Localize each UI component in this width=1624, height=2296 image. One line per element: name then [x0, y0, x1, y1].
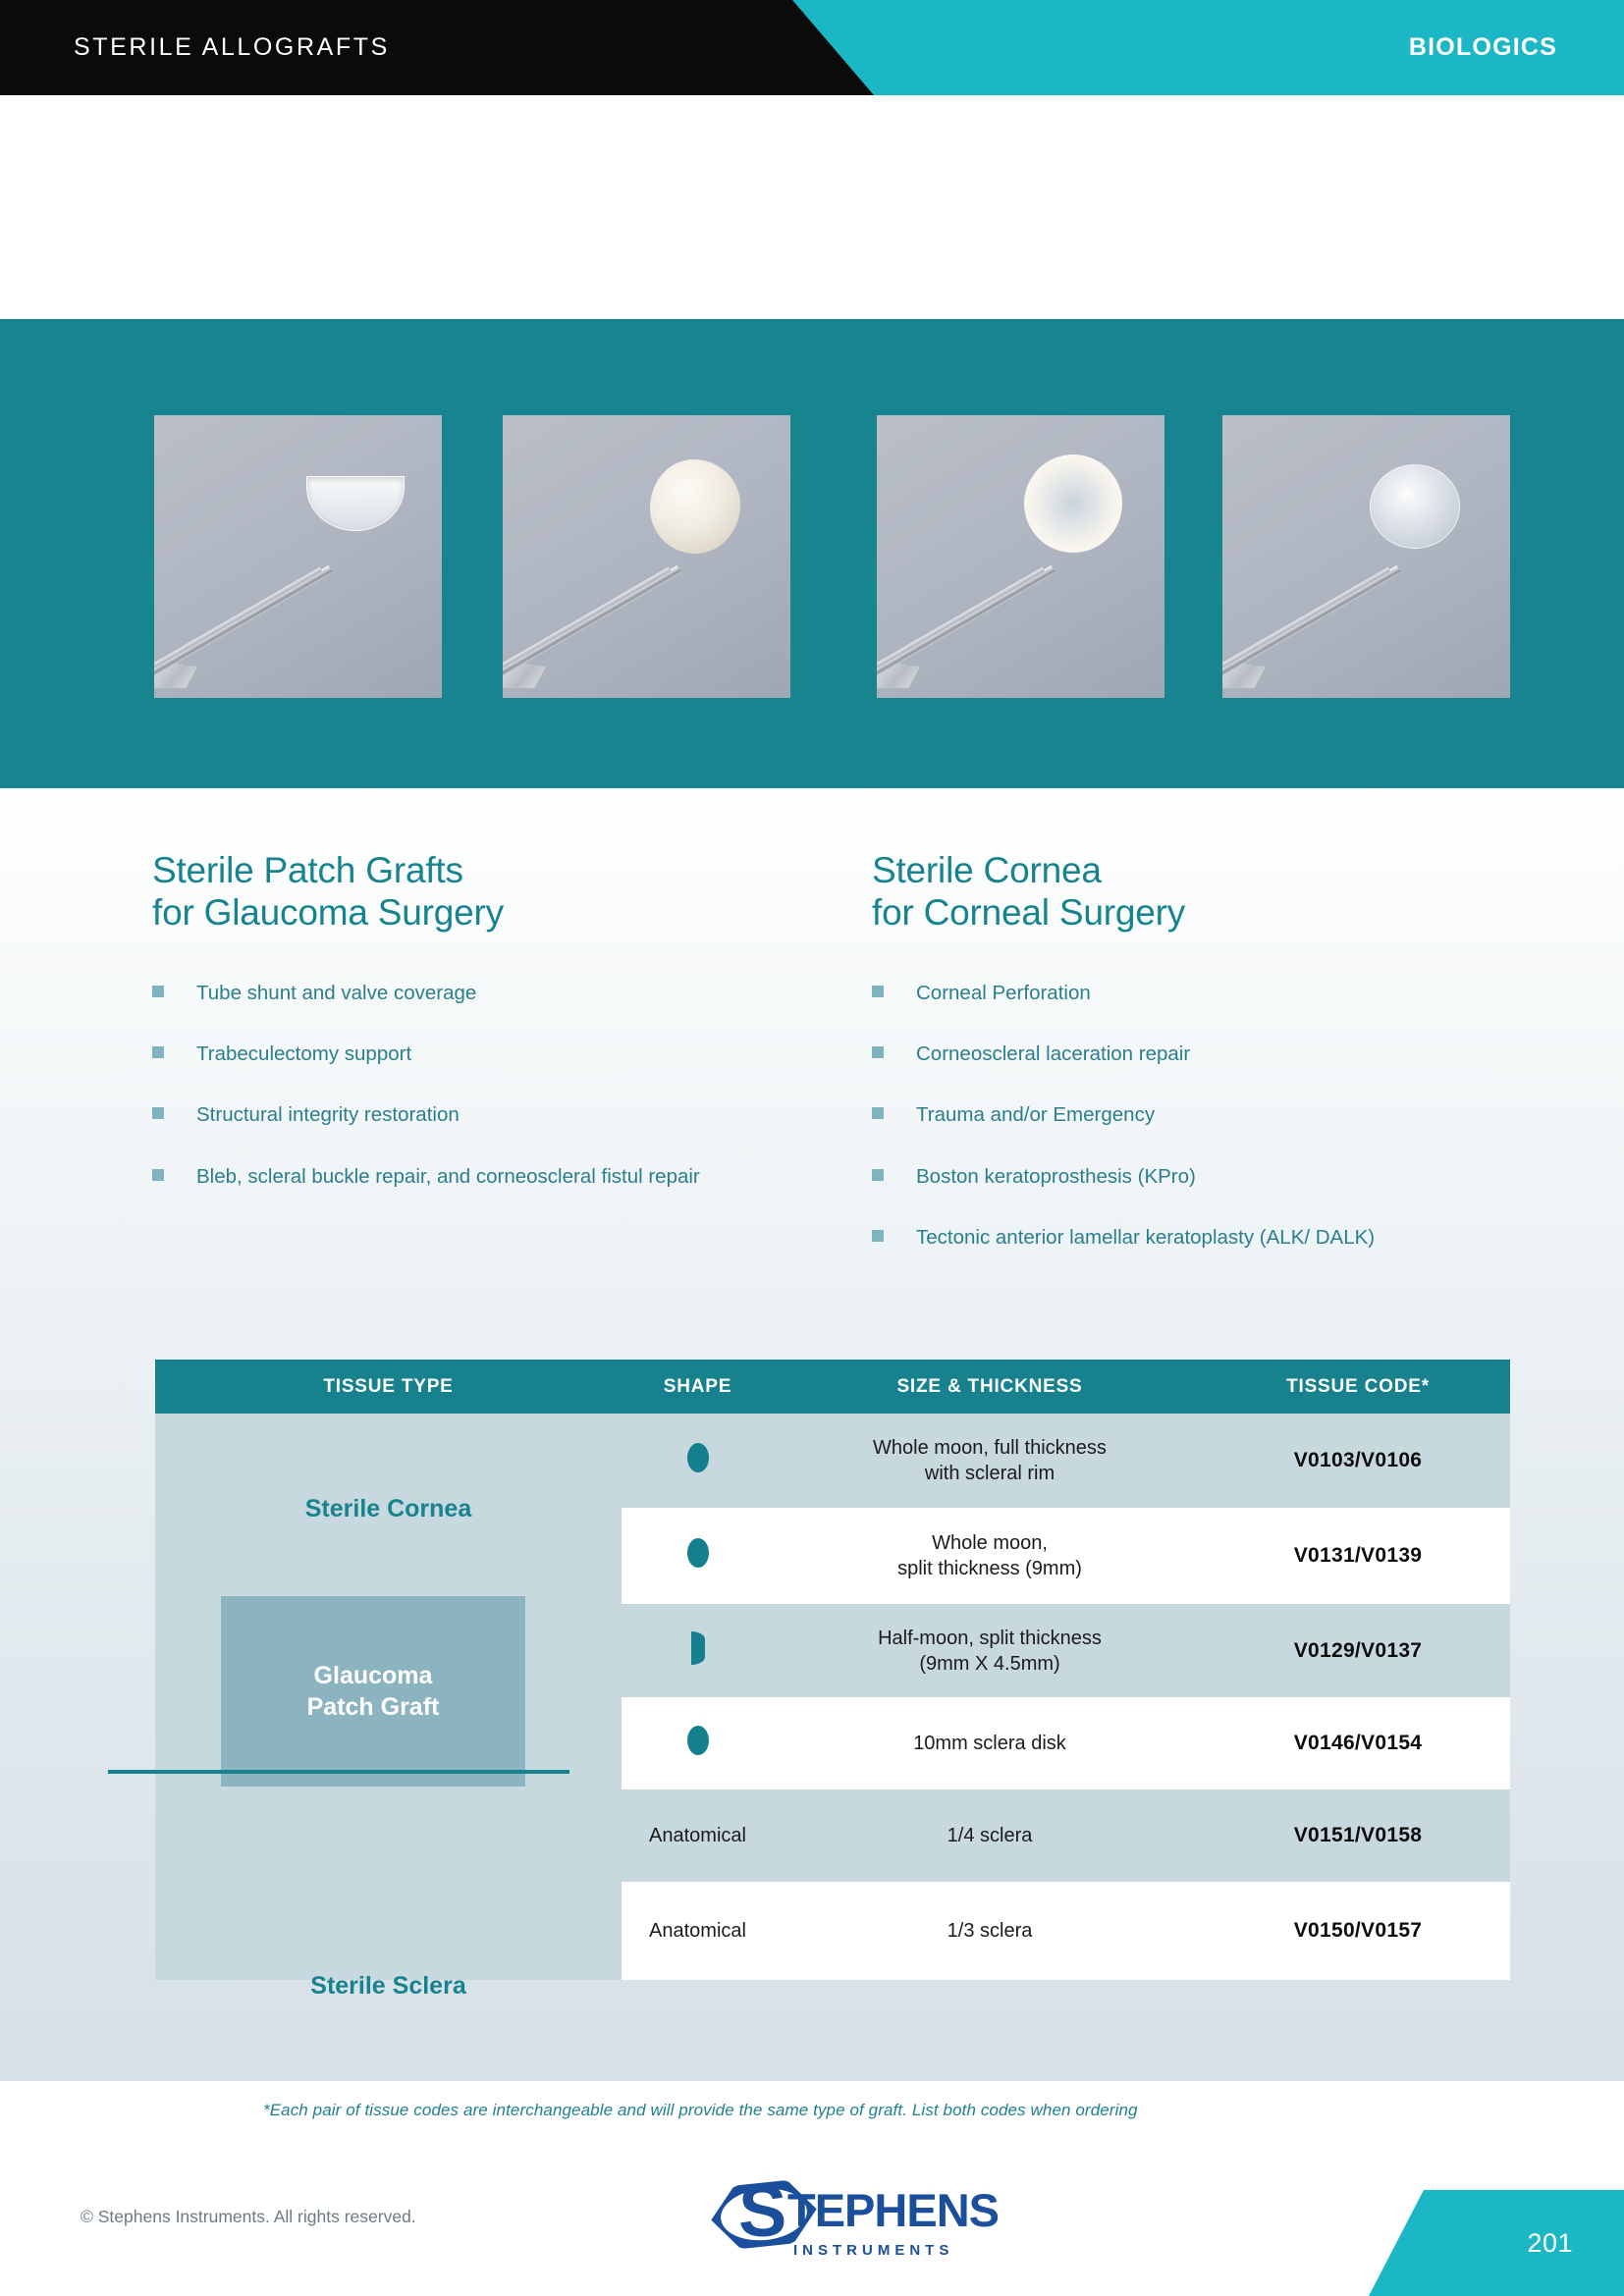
bullet-list-sterile-cornea: Corneal Perforation Corneoscleral lacera… — [872, 977, 1559, 1255]
section-title-line1: Sterile Cornea — [872, 849, 1559, 891]
size-line1: 1/4 sclera — [774, 1823, 1206, 1848]
bullet-square-icon — [152, 1169, 164, 1181]
section-sterile-cornea: Sterile Cornea for Corneal Surgery Corne… — [872, 849, 1559, 1283]
size-cell: Half-moon, split thickness (9mm X 4.5mm) — [774, 1626, 1206, 1677]
circle-icon — [687, 1538, 709, 1568]
copyright-text: © Stephens Instruments. All rights reser… — [81, 2207, 416, 2227]
bullet-text: Bleb, scleral buckle repair, and corneos… — [196, 1165, 700, 1188]
size-line2: split thickness (9mm) — [774, 1556, 1206, 1581]
header-section-title: STERILE ALLOGRAFTS — [74, 0, 390, 95]
tissue-code-cell: V0150/V0157 — [1206, 1919, 1510, 1943]
size-cell: Whole moon, split thickness (9mm) — [774, 1530, 1206, 1581]
shape-cell — [622, 1726, 774, 1761]
table-body: Sterile Cornea Glaucoma Patch Graft Ster… — [155, 1414, 1510, 1980]
section-divider-line — [108, 1770, 569, 1774]
glaucoma-label-line1: Glaucoma — [307, 1660, 440, 1691]
shape-cell: Anatomical — [622, 1920, 774, 1943]
table-row: Anatomical 1/4 sclera V0151/V0158 — [155, 1789, 1510, 1882]
page-footer: © Stephens Instruments. All rights reser… — [0, 2140, 1624, 2296]
list-item: Tectonic anterior lamellar keratoplasty … — [872, 1221, 1559, 1254]
size-line1: 10mm sclera disk — [774, 1731, 1206, 1756]
shape-cell — [622, 1443, 774, 1478]
page-number-tab — [1369, 2190, 1624, 2296]
size-line1: Whole moon, full thickness — [774, 1435, 1206, 1461]
bullet-square-icon — [872, 1046, 884, 1058]
circle-icon — [687, 1726, 709, 1755]
product-photo-banner — [0, 319, 1624, 788]
split-thickness-cornea-specimen — [1370, 464, 1460, 549]
bullet-square-icon — [872, 1230, 884, 1242]
bullet-square-icon — [152, 986, 164, 997]
bullet-square-icon — [152, 1107, 164, 1119]
bullet-text: Corneal Perforation — [916, 982, 1091, 1004]
group-label-sterile-sclera: Sterile Sclera — [155, 1882, 622, 2090]
circle-icon — [687, 1443, 709, 1472]
column-header-tissue-type: TISSUE TYPE — [155, 1376, 622, 1398]
logo-letter-s: S — [738, 2175, 786, 2248]
tissue-code-cell: V0131/V0139 — [1206, 1544, 1510, 1568]
table-footnote: *Each pair of tissue codes are interchan… — [263, 2101, 1540, 2120]
tissue-code-cell: V0129/V0137 — [1206, 1639, 1510, 1663]
section-title-line2: for Corneal Surgery — [872, 891, 1559, 934]
size-line2: (9mm X 4.5mm) — [774, 1651, 1206, 1677]
tissue-code-cell: V0151/V0158 — [1206, 1824, 1510, 1847]
size-cell: 10mm sclera disk — [774, 1731, 1206, 1756]
bullet-text: Tube shunt and valve coverage — [196, 982, 476, 1004]
forceps-icon — [877, 531, 1074, 678]
forceps-icon — [154, 531, 352, 678]
list-item: Trauma and/or Emergency — [872, 1098, 1559, 1131]
group-label-sterile-cornea: Sterile Cornea — [155, 1414, 622, 1604]
size-line1: 1/3 sclera — [774, 1918, 1206, 1944]
group-label-glaucoma-patch-graft: Glaucoma Patch Graft — [221, 1596, 525, 1787]
bullet-list-patch-grafts: Tube shunt and valve coverage Trabeculec… — [152, 977, 839, 1194]
size-line1: Half-moon, split thickness — [774, 1626, 1206, 1651]
bullet-text: Tectonic anterior lamellar keratoplasty … — [916, 1226, 1375, 1249]
product-photo-4 — [1222, 415, 1510, 698]
forceps-icon — [503, 531, 700, 678]
section-title-line2: for Glaucoma Surgery — [152, 891, 839, 934]
cornea-scleral-rim-specimen — [1024, 454, 1122, 553]
product-photo-1 — [154, 415, 442, 698]
bullet-text: Boston keratoprosthesis (KPro) — [916, 1165, 1196, 1188]
bullet-text: Trauma and/or Emergency — [916, 1103, 1155, 1126]
product-photo-2 — [503, 415, 790, 698]
size-line1: Whole moon, — [774, 1530, 1206, 1556]
list-item: Bleb, scleral buckle repair, and corneos… — [152, 1160, 839, 1193]
bullet-square-icon — [152, 1046, 164, 1058]
glaucoma-label-line2: Patch Graft — [307, 1691, 440, 1723]
list-item: Corneal Perforation — [872, 977, 1559, 1009]
tissue-specification-table: TISSUE TYPE SHAPE SIZE & THICKNESS TISSU… — [155, 1360, 1510, 1980]
product-photo-3 — [877, 415, 1164, 698]
list-item: Structural integrity restoration — [152, 1098, 839, 1131]
table-header-row: TISSUE TYPE SHAPE SIZE & THICKNESS TISSU… — [155, 1360, 1510, 1414]
bullet-square-icon — [872, 1169, 884, 1181]
size-cell: 1/4 sclera — [774, 1823, 1206, 1848]
section-title-sterile-cornea: Sterile Cornea for Corneal Surgery — [872, 849, 1559, 934]
column-header-size-thickness: SIZE & THICKNESS — [774, 1376, 1206, 1398]
page-number: 201 — [1527, 2190, 1573, 2296]
sclera-disk-specimen — [650, 459, 740, 554]
section-patch-grafts: Sterile Patch Grafts for Glaucoma Surger… — [152, 849, 839, 1221]
shape-cell — [622, 1538, 774, 1574]
list-item: Trabeculectomy support — [152, 1038, 839, 1070]
size-cell: Whole moon, full thickness with scleral … — [774, 1435, 1206, 1486]
list-item: Boston keratoprosthesis (KPro) — [872, 1160, 1559, 1193]
size-cell: 1/3 sclera — [774, 1918, 1206, 1944]
logo-subtitle: INSTRUMENTS — [793, 2242, 953, 2259]
header-category-title: BIOLOGICS — [1409, 0, 1557, 95]
shape-cell — [622, 1631, 774, 1671]
stephens-instruments-logo: S TEPHENS INSTRUMENTS — [711, 2162, 947, 2269]
bullet-text: Corneoscleral laceration repair — [916, 1042, 1190, 1065]
shape-cell: Anatomical — [622, 1825, 774, 1847]
bullet-text: Trabeculectomy support — [196, 1042, 411, 1065]
bullet-square-icon — [872, 1107, 884, 1119]
section-title-patch-grafts: Sterile Patch Grafts for Glaucoma Surger… — [152, 849, 839, 934]
list-item: Tube shunt and valve coverage — [152, 977, 839, 1009]
forceps-icon — [1222, 531, 1420, 678]
column-header-tissue-code: TISSUE CODE* — [1206, 1376, 1510, 1398]
size-line2: with scleral rim — [774, 1461, 1206, 1486]
section-title-line1: Sterile Patch Grafts — [152, 849, 839, 891]
page-header: STERILE ALLOGRAFTS BIOLOGICS — [0, 0, 1624, 95]
column-header-shape: SHAPE — [622, 1376, 774, 1398]
list-item: Corneoscleral laceration repair — [872, 1038, 1559, 1070]
bullet-text: Structural integrity restoration — [196, 1103, 460, 1126]
half-moon-icon — [691, 1631, 705, 1665]
tissue-code-cell: V0146/V0154 — [1206, 1732, 1510, 1755]
tissue-code-cell: V0103/V0106 — [1206, 1449, 1510, 1472]
bullet-square-icon — [872, 986, 884, 997]
logo-wordmark: TEPHENS — [787, 2187, 999, 2233]
